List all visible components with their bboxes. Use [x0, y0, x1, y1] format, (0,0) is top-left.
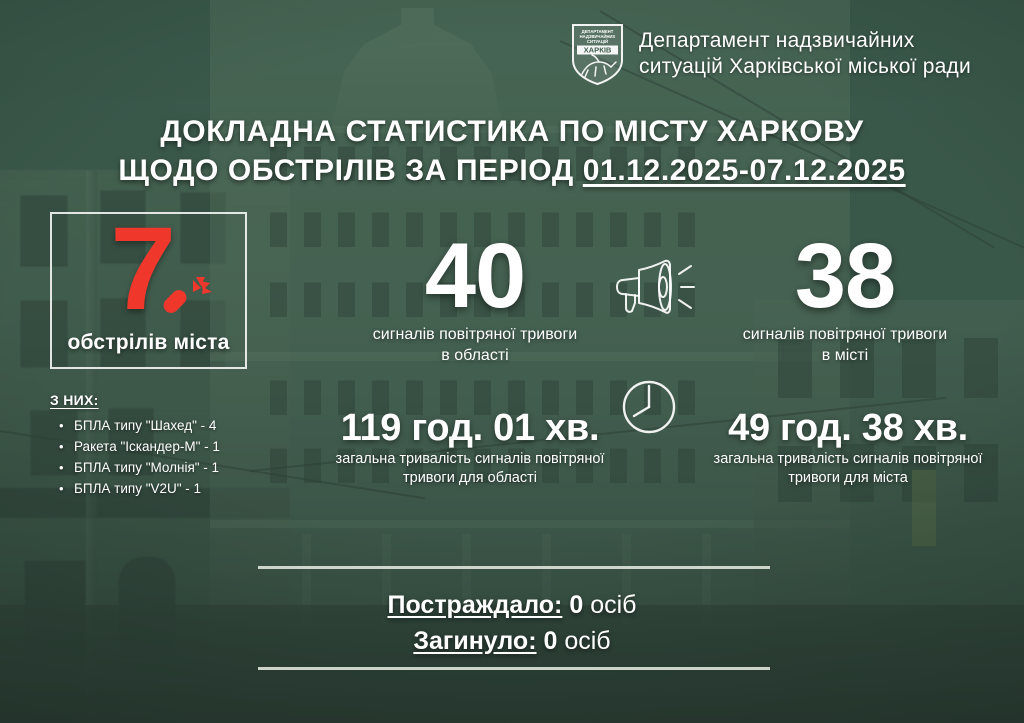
title-line-1: ДОКЛАДНА СТАТИСТИКА ПО МІСТУ ХАРКОВУ — [0, 112, 1024, 151]
stat-value: 38 — [700, 228, 990, 324]
divider-bottom — [258, 667, 770, 670]
duration-value: 49 год. 38 хв. — [678, 406, 1018, 450]
infographic-poster: ДЕПАРТАМЕНТ НАДЗВИЧАЙНИХ СИТУАЦІЙ ХАРКІВ… — [0, 0, 1024, 723]
injured-label: Постраждало: — [388, 591, 563, 619]
killed-unit: осіб — [564, 627, 610, 655]
stat-caption-line-2: в області — [330, 345, 620, 366]
casualties-injured: Постраждало: 0 осіб — [0, 588, 1024, 622]
breakdown-list: БПЛА типу "Шахед" - 4 Ракета "Іскандер-М… — [50, 415, 300, 499]
list-item: БПЛА типу "Молнія" - 1 — [74, 457, 300, 478]
svg-text:ХАРКІВ: ХАРКІВ — [584, 46, 612, 55]
stat-value: 40 — [330, 228, 620, 324]
duration-oblast: 119 год. 01 хв. загальна тривалість сигн… — [300, 406, 640, 488]
stat-city-alarms: 38 сигналів повітряної тривоги в місті — [700, 228, 990, 366]
poster-content: ДЕПАРТАМЕНТ НАДЗВИЧАЙНИХ СИТУАЦІЙ ХАРКІВ… — [0, 0, 1024, 723]
shield-logo-icon: ДЕПАРТАМЕНТ НАДЗВИЧАЙНИХ СИТУАЦІЙ ХАРКІВ — [570, 22, 625, 86]
list-item: БПЛА типу "V2U" - 1 — [74, 478, 300, 499]
duration-caption-line-2: тривоги для області — [300, 469, 640, 488]
stat-oblast-alarms: 40 сигналів повітряної тривоги в області — [330, 228, 620, 366]
megaphone-icon — [613, 256, 695, 318]
brand-header: ДЕПАРТАМЕНТ НАДЗВИЧАЙНИХ СИТУАЦІЙ ХАРКІВ… — [570, 22, 971, 86]
stat-caption-line-1: сигналів повітряної тривоги — [700, 324, 990, 345]
divider-top — [258, 566, 770, 569]
casualties-killed: Загинуло: 0 осіб — [0, 624, 1024, 658]
title-line-2: ЩОДО ОБСТРІЛІВ ЗА ПЕРІОД 01.12.2025-07.1… — [0, 151, 1024, 190]
svg-text:СИТУАЦІЙ: СИТУАЦІЙ — [587, 39, 608, 44]
duration-caption-line-1: загальна тривалість сигналів повітряної — [300, 450, 640, 469]
duration-city: 49 год. 38 хв. загальна тривалість сигна… — [678, 406, 1018, 488]
report-period: 01.12.2025-07.12.2025 — [583, 154, 906, 187]
bomb-icon — [160, 264, 216, 320]
strikes-label: обстрілів міста — [52, 331, 245, 355]
duration-caption-line-2: тривоги для міста — [678, 469, 1018, 488]
killed-label: Загинуло: — [413, 627, 536, 655]
breakdown-section: З НИХ: БПЛА типу "Шахед" - 4 Ракета "Іск… — [50, 392, 300, 499]
injured-value: 0 — [569, 591, 583, 619]
breakdown-heading: З НИХ: — [50, 392, 300, 408]
stat-caption-line-1: сигналів повітряної тривоги — [330, 324, 620, 345]
page-title: ДОКЛАДНА СТАТИСТИКА ПО МІСТУ ХАРКОВУ ЩОД… — [0, 112, 1024, 190]
title-line-2-prefix: ЩОДО ОБСТРІЛІВ ЗА ПЕРІОД — [118, 154, 582, 187]
strikes-card: 7 обстрілів міста — [50, 212, 247, 369]
killed-value: 0 — [543, 627, 557, 655]
stat-caption-line-2: в місті — [700, 345, 990, 366]
org-name: Департамент надзвичайних ситуацій Харків… — [639, 28, 971, 80]
duration-value: 119 год. 01 хв. — [300, 406, 640, 450]
list-item: Ракета "Іскандер-М" - 1 — [74, 436, 300, 457]
duration-caption-line-1: загальна тривалість сигналів повітряної — [678, 450, 1018, 469]
list-item: БПЛА типу "Шахед" - 4 — [74, 415, 300, 436]
injured-unit: осіб — [590, 591, 636, 619]
